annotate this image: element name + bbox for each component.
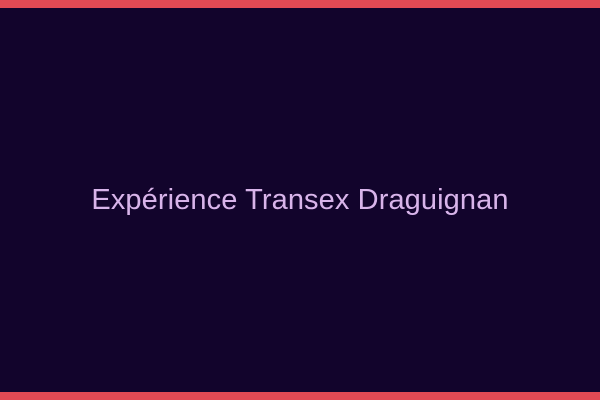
page-title: Expérience Transex Draguignan (67, 183, 532, 218)
top-accent-bar (0, 0, 600, 8)
placeholder-banner: Expérience Transex Draguignan (0, 0, 600, 400)
bottom-accent-bar (0, 392, 600, 400)
